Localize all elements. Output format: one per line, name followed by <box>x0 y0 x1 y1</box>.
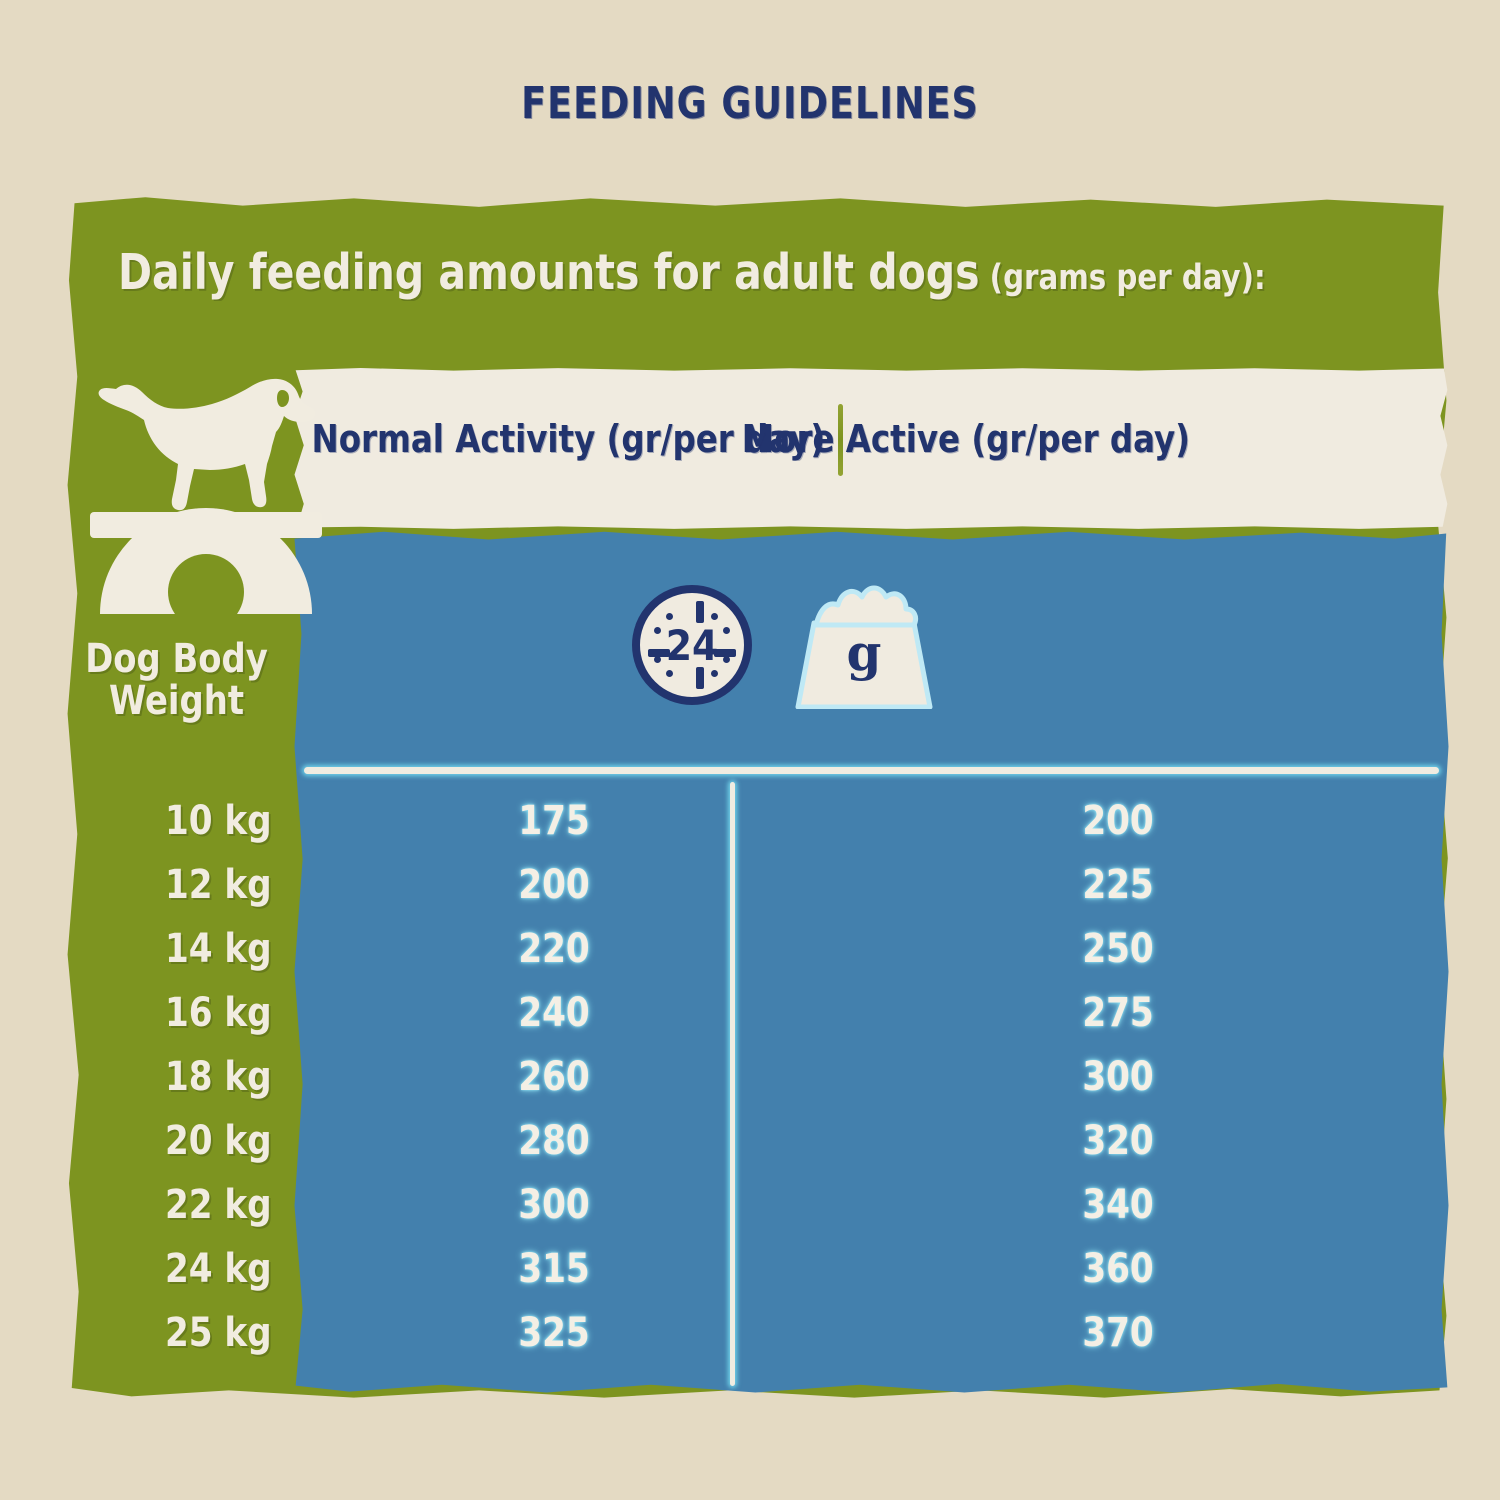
cell-dog-body-weight: 12 kg <box>67 862 271 908</box>
cell-dog-body-weight: 20 kg <box>67 1118 271 1164</box>
cell-more-active: 200 <box>1033 798 1204 844</box>
cell-normal-activity: 175 <box>469 798 640 844</box>
cell-more-active: 300 <box>1033 1054 1204 1100</box>
feeding-table-panel: Daily feeding amounts for adult dogs (gr… <box>62 196 1452 1400</box>
feeding-guidelines-infographic: FEEDING GUIDELINES Daily feeding amounts… <box>0 0 1500 1500</box>
dog-body-weight-label: Dog Body Weight <box>69 638 284 722</box>
clock-24h-icon: 24 <box>632 585 752 705</box>
table-horizontal-rule <box>304 767 1439 774</box>
cell-normal-activity: 325 <box>469 1310 640 1356</box>
table-row: 14 kg220250 <box>62 926 1452 990</box>
table-row: 12 kg200225 <box>62 862 1452 926</box>
panel-heading-main: Daily feeding amounts for adult dogs <box>118 244 979 301</box>
page-title: FEEDING GUIDELINES <box>60 78 1440 129</box>
cell-more-active: 370 <box>1033 1310 1204 1356</box>
cell-normal-activity: 200 <box>469 862 640 908</box>
cell-normal-activity: 220 <box>469 926 640 972</box>
cell-dog-body-weight: 22 kg <box>67 1182 271 1228</box>
cell-normal-activity: 315 <box>469 1246 640 1292</box>
cell-more-active: 360 <box>1033 1246 1204 1292</box>
column-header-more-active: More Active (gr/per day) <box>742 417 1190 461</box>
cell-more-active: 225 <box>1033 862 1204 908</box>
cell-dog-body-weight: 24 kg <box>67 1246 271 1292</box>
feeding-table-rows: 10 kg17520012 kg20022514 kg22025016 kg24… <box>62 798 1452 1374</box>
cell-dog-body-weight: 14 kg <box>67 926 271 972</box>
cell-dog-body-weight: 25 kg <box>67 1310 271 1356</box>
panel-heading-sub: (grams per day): <box>979 258 1265 298</box>
cell-normal-activity: 300 <box>469 1182 640 1228</box>
table-row: 25 kg325370 <box>62 1310 1452 1374</box>
cell-dog-body-weight: 18 kg <box>67 1054 271 1100</box>
bowl-unit-label: g <box>780 623 948 682</box>
clock-value: 24 <box>640 593 744 697</box>
table-row: 10 kg175200 <box>62 798 1452 862</box>
panel-heading: Daily feeding amounts for adult dogs (gr… <box>118 244 1266 301</box>
table-row: 18 kg260300 <box>62 1054 1452 1118</box>
cell-more-active: 275 <box>1033 990 1204 1036</box>
table-row: 16 kg240275 <box>62 990 1452 1054</box>
cell-dog-body-weight: 10 kg <box>67 798 271 844</box>
cell-normal-activity: 240 <box>469 990 640 1036</box>
cell-more-active: 340 <box>1033 1182 1204 1228</box>
feeding-icons-row: 24 g <box>632 579 962 709</box>
cell-normal-activity: 280 <box>469 1118 640 1164</box>
cell-more-active: 320 <box>1033 1118 1204 1164</box>
dog-on-scale-icon <box>86 354 326 614</box>
cell-more-active: 250 <box>1033 926 1204 972</box>
dog-body-weight-label-line2: Weight <box>69 680 284 722</box>
cell-dog-body-weight: 16 kg <box>67 990 271 1036</box>
cell-normal-activity: 260 <box>469 1054 640 1100</box>
table-row: 20 kg280320 <box>62 1118 1452 1182</box>
dog-body-weight-label-line1: Dog Body <box>69 638 284 680</box>
table-row: 24 kg315360 <box>62 1246 1452 1310</box>
food-bowl-icon: g <box>780 579 948 709</box>
table-row: 22 kg300340 <box>62 1182 1452 1246</box>
